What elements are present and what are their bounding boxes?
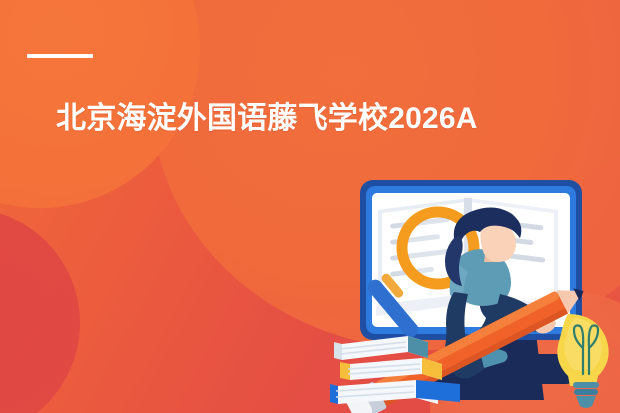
online-learning-illustration	[330, 168, 620, 413]
book-stack-icon	[330, 336, 460, 404]
page-title: 北京海淀外国语藤飞学校2026A	[56, 99, 620, 139]
lightbulb-icon	[557, 314, 608, 408]
title-accent-rule	[27, 54, 93, 58]
promo-banner: 北京海淀外国语藤飞学校2026A	[0, 0, 620, 413]
